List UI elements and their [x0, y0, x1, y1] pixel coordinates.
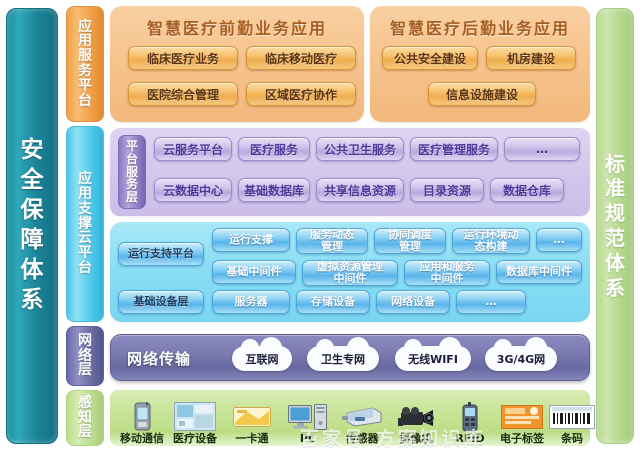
layer-char: 云: [78, 231, 92, 246]
layer-char: 平: [78, 79, 92, 94]
architecture-diagram: 安 全 保 障 体 系 标 准 规 范 体 系 应 用 服 务 平 台 应 用 …: [0, 0, 640, 451]
platform-button-basic-database[interactable]: 基础数据库: [238, 178, 310, 202]
security-system-pillar: 安 全 保 障 体 系: [6, 8, 58, 444]
layer-char: 感: [78, 396, 92, 411]
medical-equipment-icon: [174, 401, 216, 432]
support-button-infrastructure-layer[interactable]: 基础设备层: [118, 290, 204, 314]
platform-button-data-warehouse[interactable]: 数据仓库: [490, 178, 564, 202]
layer-char: 层: [78, 425, 92, 440]
support-button-server[interactable]: 服务器: [212, 290, 290, 314]
layer-char: 平: [78, 246, 92, 261]
support-button-collaborative-scheduling-management[interactable]: 协同调度 管理: [374, 228, 446, 254]
panel-support-cloud-platform: 运行支持平台 基础设备层 运行支撑 服务动态 管理 协同调度 管理 运行环境动 …: [110, 222, 590, 322]
layer-char: 用: [78, 187, 92, 202]
panel-platform-service-layer: 平 台 服 务 层 云服务平台 医疗服务 公共卫生服务 医疗管理服务 … 云数据…: [110, 128, 590, 216]
app-button-server-room[interactable]: 机房建设: [486, 46, 576, 70]
layer-label-network: 网 络 层: [66, 326, 104, 386]
network-cloud-3g-4g[interactable]: 3G/4G网: [485, 346, 557, 371]
smart-card-icon: [233, 401, 271, 432]
network-cloud-wireless-wifi[interactable]: 无线WIFI: [395, 346, 471, 371]
platform-button-medical-service[interactable]: 医疗服务: [238, 137, 310, 161]
pillar-char: 障: [21, 229, 44, 253]
support-button-more-row1[interactable]: …: [536, 228, 582, 252]
support-button-run-support[interactable]: 运行支撑: [212, 228, 290, 252]
sublabel-char: 台: [126, 153, 138, 166]
app-button-regional-collaboration[interactable]: 区域医疗协作: [246, 82, 356, 106]
device-label: 传感器: [346, 433, 379, 444]
device-label: 一卡通: [236, 433, 269, 444]
platform-button-cloud-data-center[interactable]: 云数据中心: [154, 178, 232, 202]
layer-char: 应: [78, 172, 92, 187]
device-label: 医疗设备: [173, 433, 217, 444]
pillar-char: 安: [21, 139, 44, 163]
pillar-char: 标: [605, 154, 625, 175]
device-label: RFID: [455, 433, 484, 444]
panel-perception-devices: 移动通信 医疗设备: [110, 390, 590, 446]
mobile-phone-icon: [134, 401, 151, 432]
network-cloud-internet[interactable]: 互联网: [232, 346, 292, 371]
cloud-label: 互联网: [246, 351, 279, 367]
app-button-clinical-medical[interactable]: 临床医疗业务: [128, 46, 238, 70]
electronic-tag-icon: [501, 401, 543, 432]
support-button-service-dynamic-management[interactable]: 服务动态 管理: [296, 228, 368, 254]
rfid-reader-icon: [459, 401, 481, 432]
network-cloud-health-private-network[interactable]: 卫生专网: [307, 346, 379, 371]
device-label: PC: [300, 433, 316, 444]
platform-button-shared-info-resource[interactable]: 共享信息资源: [316, 178, 404, 202]
pillar-char: 系: [605, 278, 625, 299]
front-office-title: 智慧医疗前勤业务应用: [110, 15, 364, 39]
panel-network-transmission: 网络传输 互联网 卫生专网 无线WIFI 3G/4G网: [110, 334, 590, 381]
support-button-runtime-env-dynamic-construction[interactable]: 运行环境动 态构建: [452, 228, 530, 254]
device-label: 条码: [561, 433, 583, 444]
layer-label-app-service: 应 用 服 务 平 台: [66, 6, 104, 122]
support-button-run-support-platform[interactable]: 运行支持平台: [118, 242, 204, 266]
barcode-icon: [549, 401, 595, 432]
layer-char: 网: [78, 334, 92, 349]
layer-label-perception: 感 知 层: [66, 390, 104, 446]
app-button-hospital-management[interactable]: 医院综合管理: [128, 82, 238, 106]
support-button-more-row3[interactable]: …: [456, 290, 526, 314]
layer-char: 服: [78, 49, 92, 64]
device-video-camera[interactable]: 摄像机: [386, 392, 446, 444]
layer-char: 台: [78, 261, 92, 276]
device-label: 移动通信: [120, 433, 164, 444]
app-button-info-facility[interactable]: 信息设施建设: [428, 82, 536, 106]
network-transmission-label: 网络传输: [127, 348, 191, 369]
cloud-label: 卫生专网: [321, 351, 365, 367]
layer-label-support-cloud: 应 用 支 撑 云 平 台: [66, 126, 104, 322]
cloud-label: 无线WIFI: [408, 351, 458, 367]
platform-button-directory-resource[interactable]: 目录资源: [410, 178, 484, 202]
support-button-storage-device[interactable]: 存储设备: [296, 290, 370, 314]
device-rfid[interactable]: RFID: [440, 392, 500, 444]
layer-char: 用: [78, 34, 92, 49]
layer-char: 支: [78, 202, 92, 217]
pillar-char: 全: [21, 169, 44, 193]
pillar-char: 体: [605, 253, 625, 274]
sublabel-platform-service-layer: 平 台 服 务 层: [118, 135, 146, 209]
device-label: 摄像机: [400, 433, 433, 444]
device-smart-card[interactable]: 一卡通: [222, 392, 282, 444]
device-barcode[interactable]: 条码: [542, 392, 602, 444]
app-button-clinical-mobile[interactable]: 临床移动医疗: [246, 46, 356, 70]
pillar-char: 系: [21, 289, 44, 313]
device-sensor[interactable]: 传感器: [332, 392, 392, 444]
pillar-char: 准: [605, 178, 625, 199]
back-office-title: 智慧医疗后勤业务应用: [370, 15, 590, 39]
pillar-char: 范: [605, 228, 625, 249]
platform-button-cloud-service-platform[interactable]: 云服务平台: [154, 137, 232, 161]
video-camera-icon: [395, 401, 437, 432]
layer-char: 务: [78, 64, 92, 79]
device-mobile-communication[interactable]: 移动通信: [112, 392, 172, 444]
layer-char: 层: [78, 363, 92, 378]
platform-button-medical-management-service[interactable]: 医疗管理服务: [410, 137, 498, 161]
sublabel-char: 平: [126, 140, 138, 153]
standards-system-pillar: 标 准 规 范 体 系: [596, 8, 634, 444]
app-button-public-safety[interactable]: 公共安全建设: [382, 46, 478, 70]
device-label: 电子标签: [500, 433, 544, 444]
support-button-basic-middleware[interactable]: 基础中间件: [212, 260, 296, 284]
support-button-database-middleware[interactable]: 数据库中间件: [496, 260, 582, 284]
pillar-char: 保: [21, 199, 44, 223]
device-pc[interactable]: PC: [278, 392, 338, 444]
support-button-virtual-resource-management-middleware[interactable]: 虚拟资源管理 中间件: [302, 260, 398, 286]
device-medical-equipment[interactable]: 医疗设备: [165, 392, 225, 444]
pillar-char: 规: [605, 203, 625, 224]
panel-front-office-applications: 智慧医疗前勤业务应用 临床医疗业务 临床移动医疗 医院综合管理 区域医疗协作: [110, 6, 364, 122]
pillar-char: 体: [21, 259, 44, 283]
layer-char: 台: [78, 94, 92, 109]
sensor-icon: [341, 401, 383, 432]
sublabel-char: 层: [126, 191, 138, 204]
support-button-application-service-middleware[interactable]: 应用和服务 中间件: [404, 260, 490, 286]
desktop-computer-icon: [288, 401, 328, 432]
panel-back-office-applications: 智慧医疗后勤业务应用 公共安全建设 机房建设 信息设施建设: [370, 6, 590, 122]
platform-button-more-row1[interactable]: …: [504, 137, 580, 161]
support-button-network-device[interactable]: 网络设备: [376, 290, 450, 314]
cloud-label: 3G/4G网: [497, 351, 545, 367]
platform-button-public-health-service[interactable]: 公共卫生服务: [316, 137, 404, 161]
